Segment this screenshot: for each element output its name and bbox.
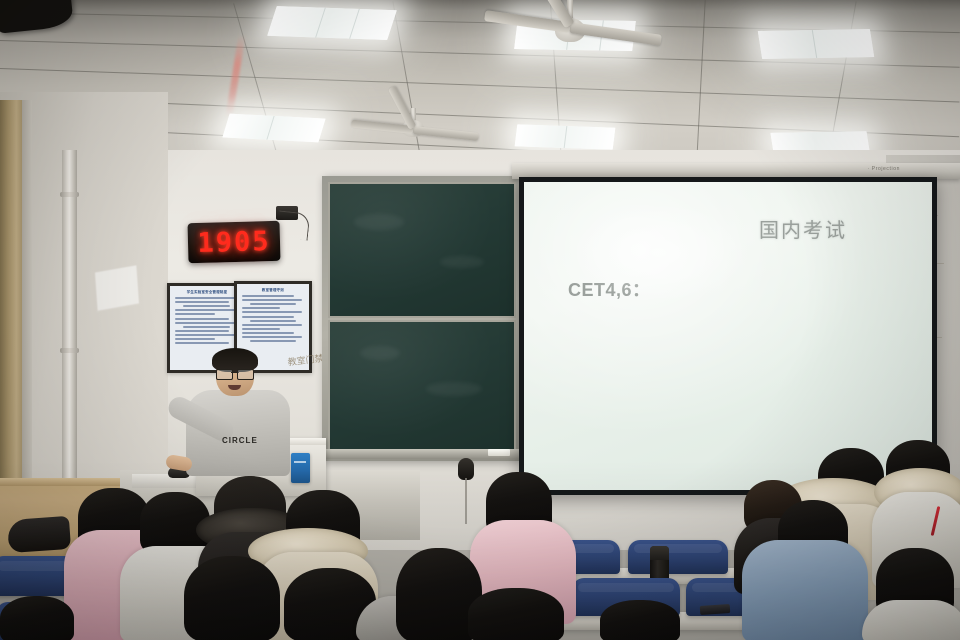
notice-board-2-heading: 教室管理守则 [242,288,304,293]
teacher: CIRCLE [170,352,290,482]
wall-tape-mark [94,264,140,312]
digital-clock: 1905 [187,221,280,263]
student-hair [184,556,280,640]
teacher-sweatshirt [186,390,290,476]
chair [628,540,728,574]
wall-speaker-icon [0,0,74,34]
ceiling-fan-2 [348,108,478,148]
chalk-piece [488,449,510,456]
notice-board-1-heading: 学生实验室安全管理制度 [175,290,239,295]
slide-surface: 国内考试 CET4,6： [524,182,932,490]
door-frame [0,100,30,500]
sweatshirt-logo-text: CIRCLE [222,436,258,445]
classroom-photo: 1905 学生实验室安全管理制度 教室管理守则 教室门禁管理 · Project… [0,0,960,640]
slide-title: 国内考试 [524,214,932,243]
glasses-icon [216,369,254,378]
student-hair [600,600,680,640]
student [468,588,564,640]
student [184,556,280,640]
student-coat [862,600,960,640]
wall-pipe [62,150,77,500]
student [600,600,680,640]
student-coat [742,540,868,640]
ceiling-light-1 [267,6,397,40]
bag [7,516,71,553]
student-hair [0,596,74,640]
slide-body-text: CET4,6： [568,276,651,302]
ceiling-fan-1 [480,0,660,46]
clock-digits: 1905 [197,226,271,259]
student [0,596,74,640]
student-hair [468,588,564,640]
blackboard-panel-top [328,182,516,318]
blue-cup [291,453,310,483]
blackboard-panel-bottom [328,320,516,455]
ceiling-light-5 [758,29,874,59]
ceiling-light-2 [222,114,325,143]
screen-brand-label: · Projection [868,166,901,172]
microphone-icon [458,458,474,480]
ceiling-light-4 [515,124,616,149]
blackboard [322,176,522,461]
